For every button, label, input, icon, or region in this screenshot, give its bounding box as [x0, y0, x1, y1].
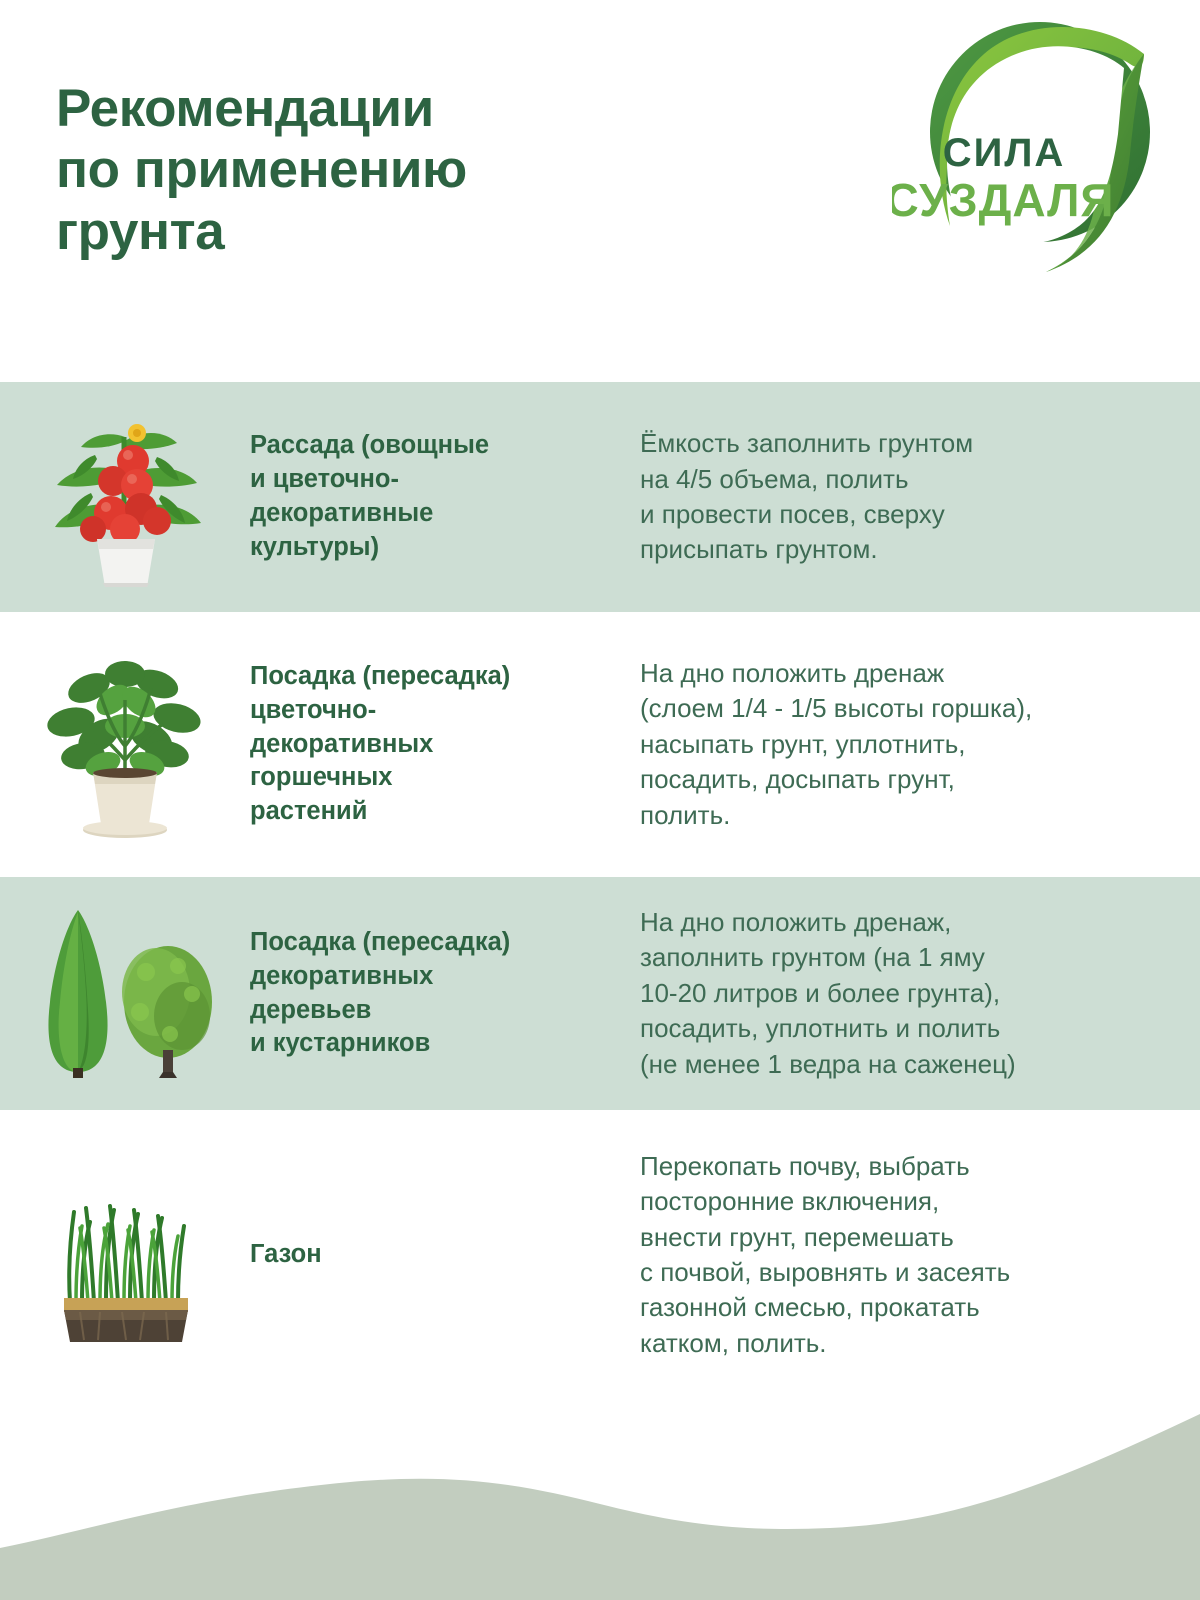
page-header: Рекомендации по применению грунта — [0, 0, 1200, 382]
bottom-wave-decoration — [0, 1380, 1200, 1600]
potted-houseplant-icon — [0, 612, 250, 877]
logo-text-line2: СУЗДАЛЯ — [892, 174, 1114, 226]
logo-text-line1: СИЛА — [943, 131, 1066, 175]
tomato-seedling-in-pot-icon — [0, 382, 250, 612]
infographic-page: Рекомендации по применению грунта — [0, 0, 1200, 1600]
page-title: Рекомендации по применению грунта — [56, 78, 676, 262]
row-description: На дно положить дренаж (слоем 1/4 - 1/5 … — [640, 656, 1200, 833]
recommendation-table: Рассада (овощные и цветочно- декоративны… — [0, 382, 1200, 1400]
row-description: На дно положить дренаж, заполнить грунто… — [640, 905, 1200, 1082]
row-label: Газон — [250, 1238, 640, 1272]
deciduous-tree — [122, 946, 212, 1078]
table-row: Рассада (овощные и цветочно- декоративны… — [0, 382, 1200, 612]
row-label: Рассада (овощные и цветочно- декоративны… — [250, 429, 640, 565]
row-description: Ёмкость заполнить грунтом на 4/5 объема,… — [640, 426, 1200, 567]
row-label: Посадка (пересадка) цветочно- декоративн… — [250, 660, 640, 830]
table-row: Посадка (пересадка) декоративных деревье… — [0, 877, 1200, 1110]
table-row: Газон Перекопать почву, выбрать посторон… — [0, 1110, 1200, 1400]
row-label: Посадка (пересадка) декоративных деревье… — [250, 926, 640, 1062]
ornamental-trees-and-shrubs-icon — [0, 877, 250, 1110]
tomato-flower — [128, 424, 146, 442]
brand-logo: СИЛА СУЗДАЛЯ — [892, 14, 1172, 286]
conifer-tree — [48, 910, 107, 1078]
table-row: Посадка (пересадка) цветочно- декоративн… — [0, 612, 1200, 877]
lawn-grass-sod-icon — [0, 1110, 250, 1400]
row-description: Перекопать почву, выбрать посторонние вк… — [640, 1149, 1200, 1361]
